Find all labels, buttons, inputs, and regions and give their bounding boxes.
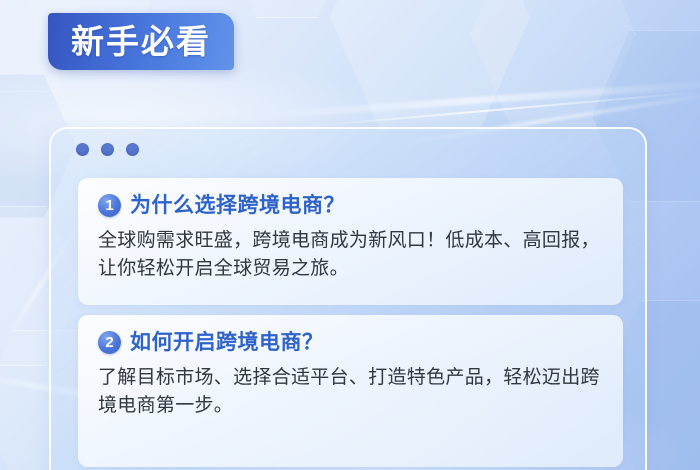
question-text: 为什么选择跨境电商？ [130, 194, 345, 217]
answer-text: 了解目标市场、选择合适平台、打造特色产品，轻松迈出跨境电商第一步。 [98, 364, 603, 420]
infographic-canvas: 新手必看 1 为什么选择跨境电商？ 全球购需求旺盛，跨境电商成为新风口！低成本、… [0, 0, 700, 470]
step-number-badge: 1 [98, 194, 121, 217]
window-dot-icon [126, 143, 139, 156]
section-badge: 新手必看 [48, 13, 234, 70]
hexagon-shape [226, 0, 348, 18]
window-dots [76, 143, 139, 156]
window-dot-icon [76, 143, 89, 156]
step-number-badge: 2 [98, 331, 121, 354]
light-streak [269, 91, 700, 131]
badge-label: 新手必看 [71, 25, 211, 58]
window-dot-icon [101, 143, 114, 156]
hexagon-shape [330, 0, 530, 130]
question-row: 2 如何开启跨境电商？ [98, 331, 603, 354]
answer-text: 全球购需求旺盛，跨境电商成为新风口！低成本、高回报，让你轻松开启全球贸易之旅。 [98, 227, 603, 283]
content-card: 1 为什么选择跨境电商？ 全球购需求旺盛，跨境电商成为新风口！低成本、高回报，让… [49, 127, 647, 470]
hexagon-shape [470, 0, 636, 128]
light-streak [255, 80, 700, 120]
question-text: 如何开启跨境电商？ [130, 331, 324, 354]
qa-panel-2: 2 如何开启跨境电商？ 了解目标市场、选择合适平台、打造特色产品，轻松迈出跨境电… [78, 315, 623, 467]
qa-panel-1: 1 为什么选择跨境电商？ 全球购需求旺盛，跨境电商成为新风口！低成本、高回报，让… [78, 178, 623, 305]
question-row: 1 为什么选择跨境电商？ [98, 194, 603, 217]
